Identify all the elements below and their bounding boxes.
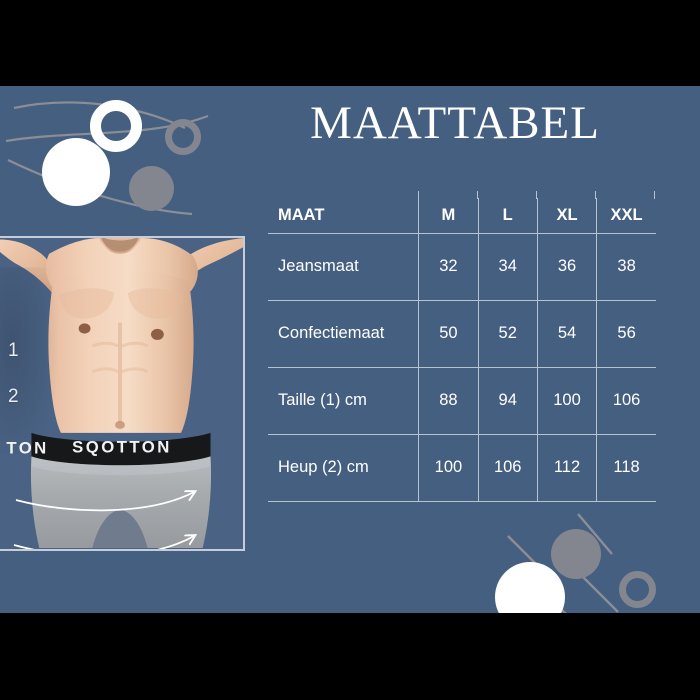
waistband-logo-text: SQOTTON (72, 437, 172, 456)
cell-value: 32 (419, 233, 478, 300)
table-header-row: MAAT M L XL XXL (268, 198, 656, 233)
decorative-gray-circle-icon (129, 166, 174, 211)
table-row: Confectiemaat 50 52 54 56 (268, 300, 656, 367)
table-row: Heup (2) cm 100 106 112 118 (268, 434, 656, 501)
waistband-logo-text-partial: TON (6, 438, 48, 457)
cell-value: 106 (597, 367, 656, 434)
cell-value: 94 (478, 367, 537, 434)
table-row: Taille (1) cm 88 94 100 106 (268, 367, 656, 434)
decorative-white-ring-icon (90, 100, 142, 152)
column-header-m: M (419, 198, 478, 233)
row-label: Jeansmaat (268, 233, 419, 300)
column-header-l: L (478, 198, 537, 233)
cell-value: 112 (537, 434, 596, 501)
cell-value: 38 (597, 233, 656, 300)
column-header-xxl: XXL (597, 198, 656, 233)
size-chart-graphic: MAATTABEL (0, 0, 700, 700)
decorative-gray-circle-icon-2 (551, 529, 601, 579)
cell-value: 88 (419, 367, 478, 434)
row-label: Heup (2) cm (268, 434, 419, 501)
product-photo-frame: SQOTTON TON (0, 236, 245, 551)
cell-value: 36 (537, 233, 596, 300)
letterbox-top (0, 0, 700, 86)
cell-value: 100 (419, 434, 478, 501)
cell-value: 54 (537, 300, 596, 367)
table-row: Jeansmaat 32 34 36 38 (268, 233, 656, 300)
row-label: Confectiemaat (268, 300, 419, 367)
page-title: MAATTABEL (255, 99, 655, 148)
cell-value: 118 (597, 434, 656, 501)
decorative-gray-ring-icon-2 (619, 571, 656, 608)
letterbox-bottom (0, 613, 700, 700)
row-label: Taille (1) cm (268, 367, 419, 434)
blue-canvas: MAATTABEL (0, 86, 700, 613)
measure-marker-1: 1 (8, 340, 19, 362)
column-header-maat: MAAT (268, 198, 419, 233)
decorative-gray-ring-icon (165, 119, 201, 155)
cell-value: 100 (537, 367, 596, 434)
cell-value: 52 (478, 300, 537, 367)
cell-value: 56 (597, 300, 656, 367)
column-header-xl: XL (537, 198, 596, 233)
measurement-guide-lines (0, 468, 245, 551)
decorative-white-circle-icon (42, 138, 110, 206)
cell-value: 106 (478, 434, 537, 501)
size-chart-table: MAAT M L XL XXL Jeansmaat 32 34 36 38 Co… (268, 198, 656, 502)
measure-marker-2: 2 (8, 386, 19, 408)
cell-value: 50 (419, 300, 478, 367)
cell-value: 34 (478, 233, 537, 300)
